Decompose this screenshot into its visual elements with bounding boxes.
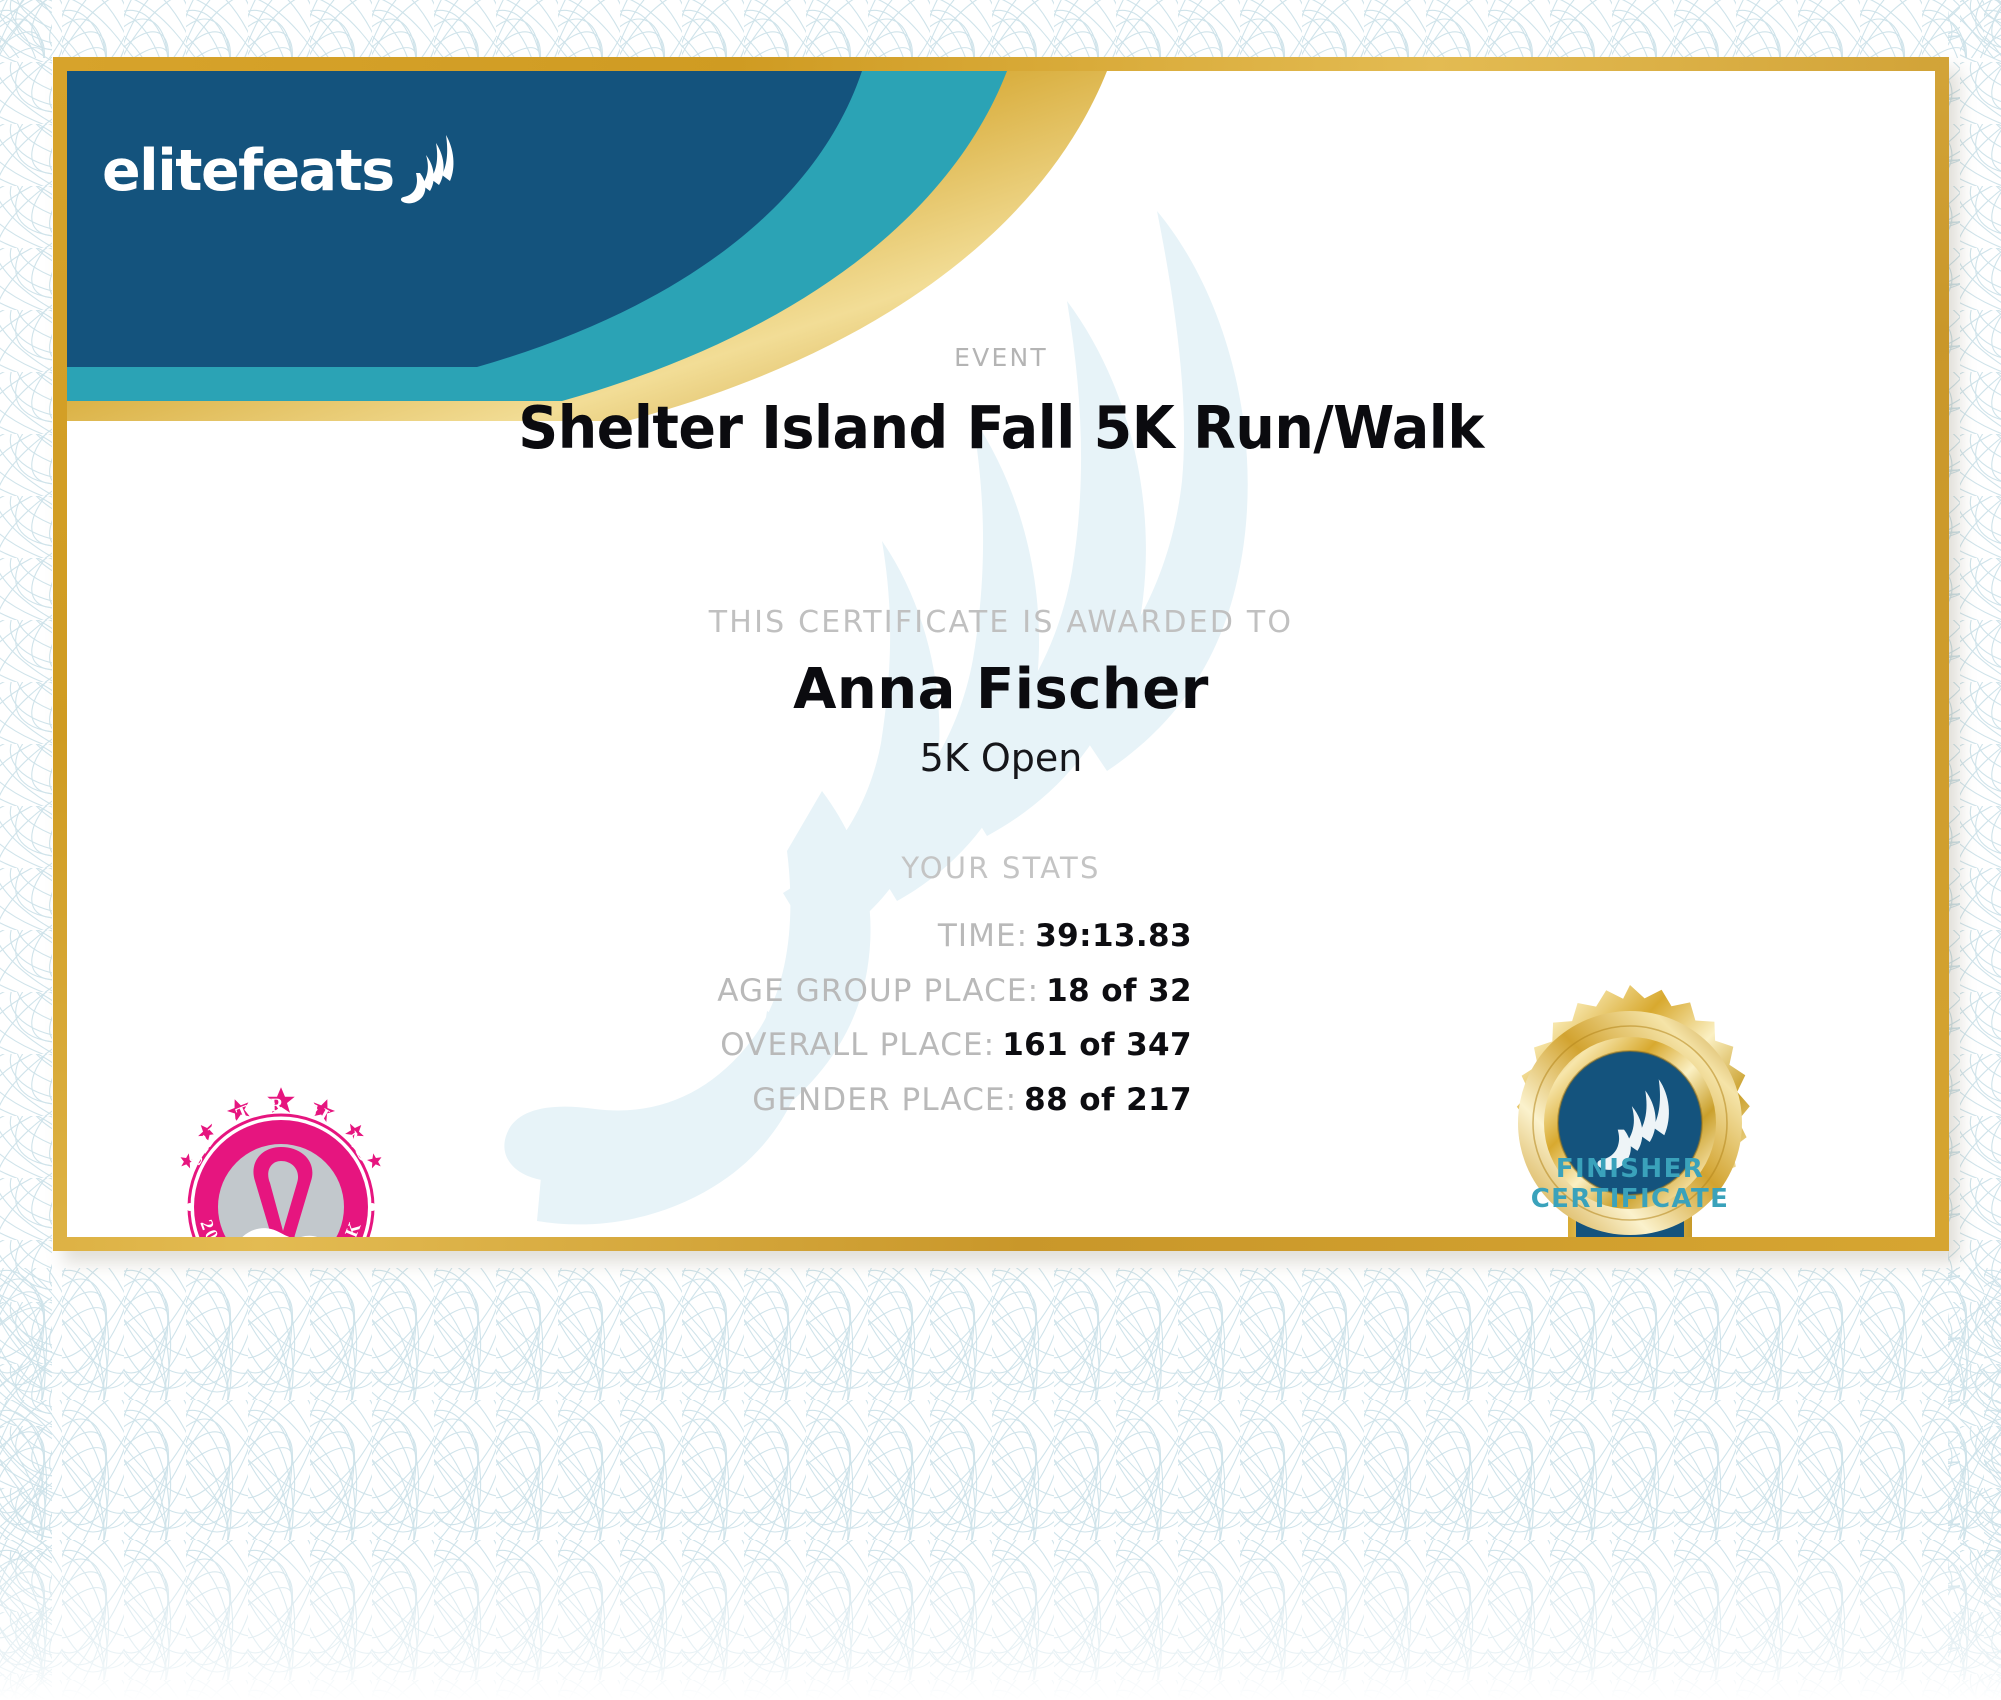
event-title: Shelter Island Fall 5K Run/Walk [123, 393, 1879, 462]
stat-value: 88 of 217 [1024, 1082, 1192, 1118]
certificate-inner-page: elitefeats EVENT Shelter Island Fall 5K … [67, 71, 1935, 1237]
stat-row-overall-place: OVERALL PLACE:161 of 347 [67, 1028, 1192, 1064]
finisher-certificate-caption: FINISHER CERTIFICATE [1480, 1155, 1780, 1214]
stat-key: TIME: [938, 918, 1028, 954]
stat-key: OVERALL PLACE: [720, 1027, 995, 1063]
stat-value: 161 of 347 [1002, 1027, 1192, 1063]
certificate-page: elitefeats EVENT Shelter Island Fall 5K … [0, 0, 2001, 1700]
recipient-name: Anna Fischer [67, 657, 1935, 722]
finisher-caption-line-2: CERTIFICATE [1480, 1185, 1780, 1215]
recipient-division: 5K Open [67, 736, 1935, 780]
finisher-caption-line-1: FINISHER [1480, 1155, 1780, 1185]
stat-row-time: TIME:39:13.83 [67, 919, 1192, 955]
stat-key: GENDER PLACE: [752, 1082, 1017, 1118]
stat-value: 18 of 32 [1046, 973, 1192, 1009]
stat-row-age-group-place: AGE GROUP PLACE:18 of 32 [67, 974, 1192, 1010]
stat-key: AGE GROUP PLACE: [717, 973, 1039, 1009]
stat-value: 39:13.83 [1035, 918, 1192, 954]
shelter-island-seal-icon: SHELTER ISLAND 2025 5K RUN-WALK [165, 1083, 397, 1237]
awarded-to-label: THIS CERTIFICATE IS AWARDED TO [67, 605, 1935, 640]
event-label: EVENT [67, 343, 1935, 372]
your-stats-label: YOUR STATS [67, 851, 1935, 885]
